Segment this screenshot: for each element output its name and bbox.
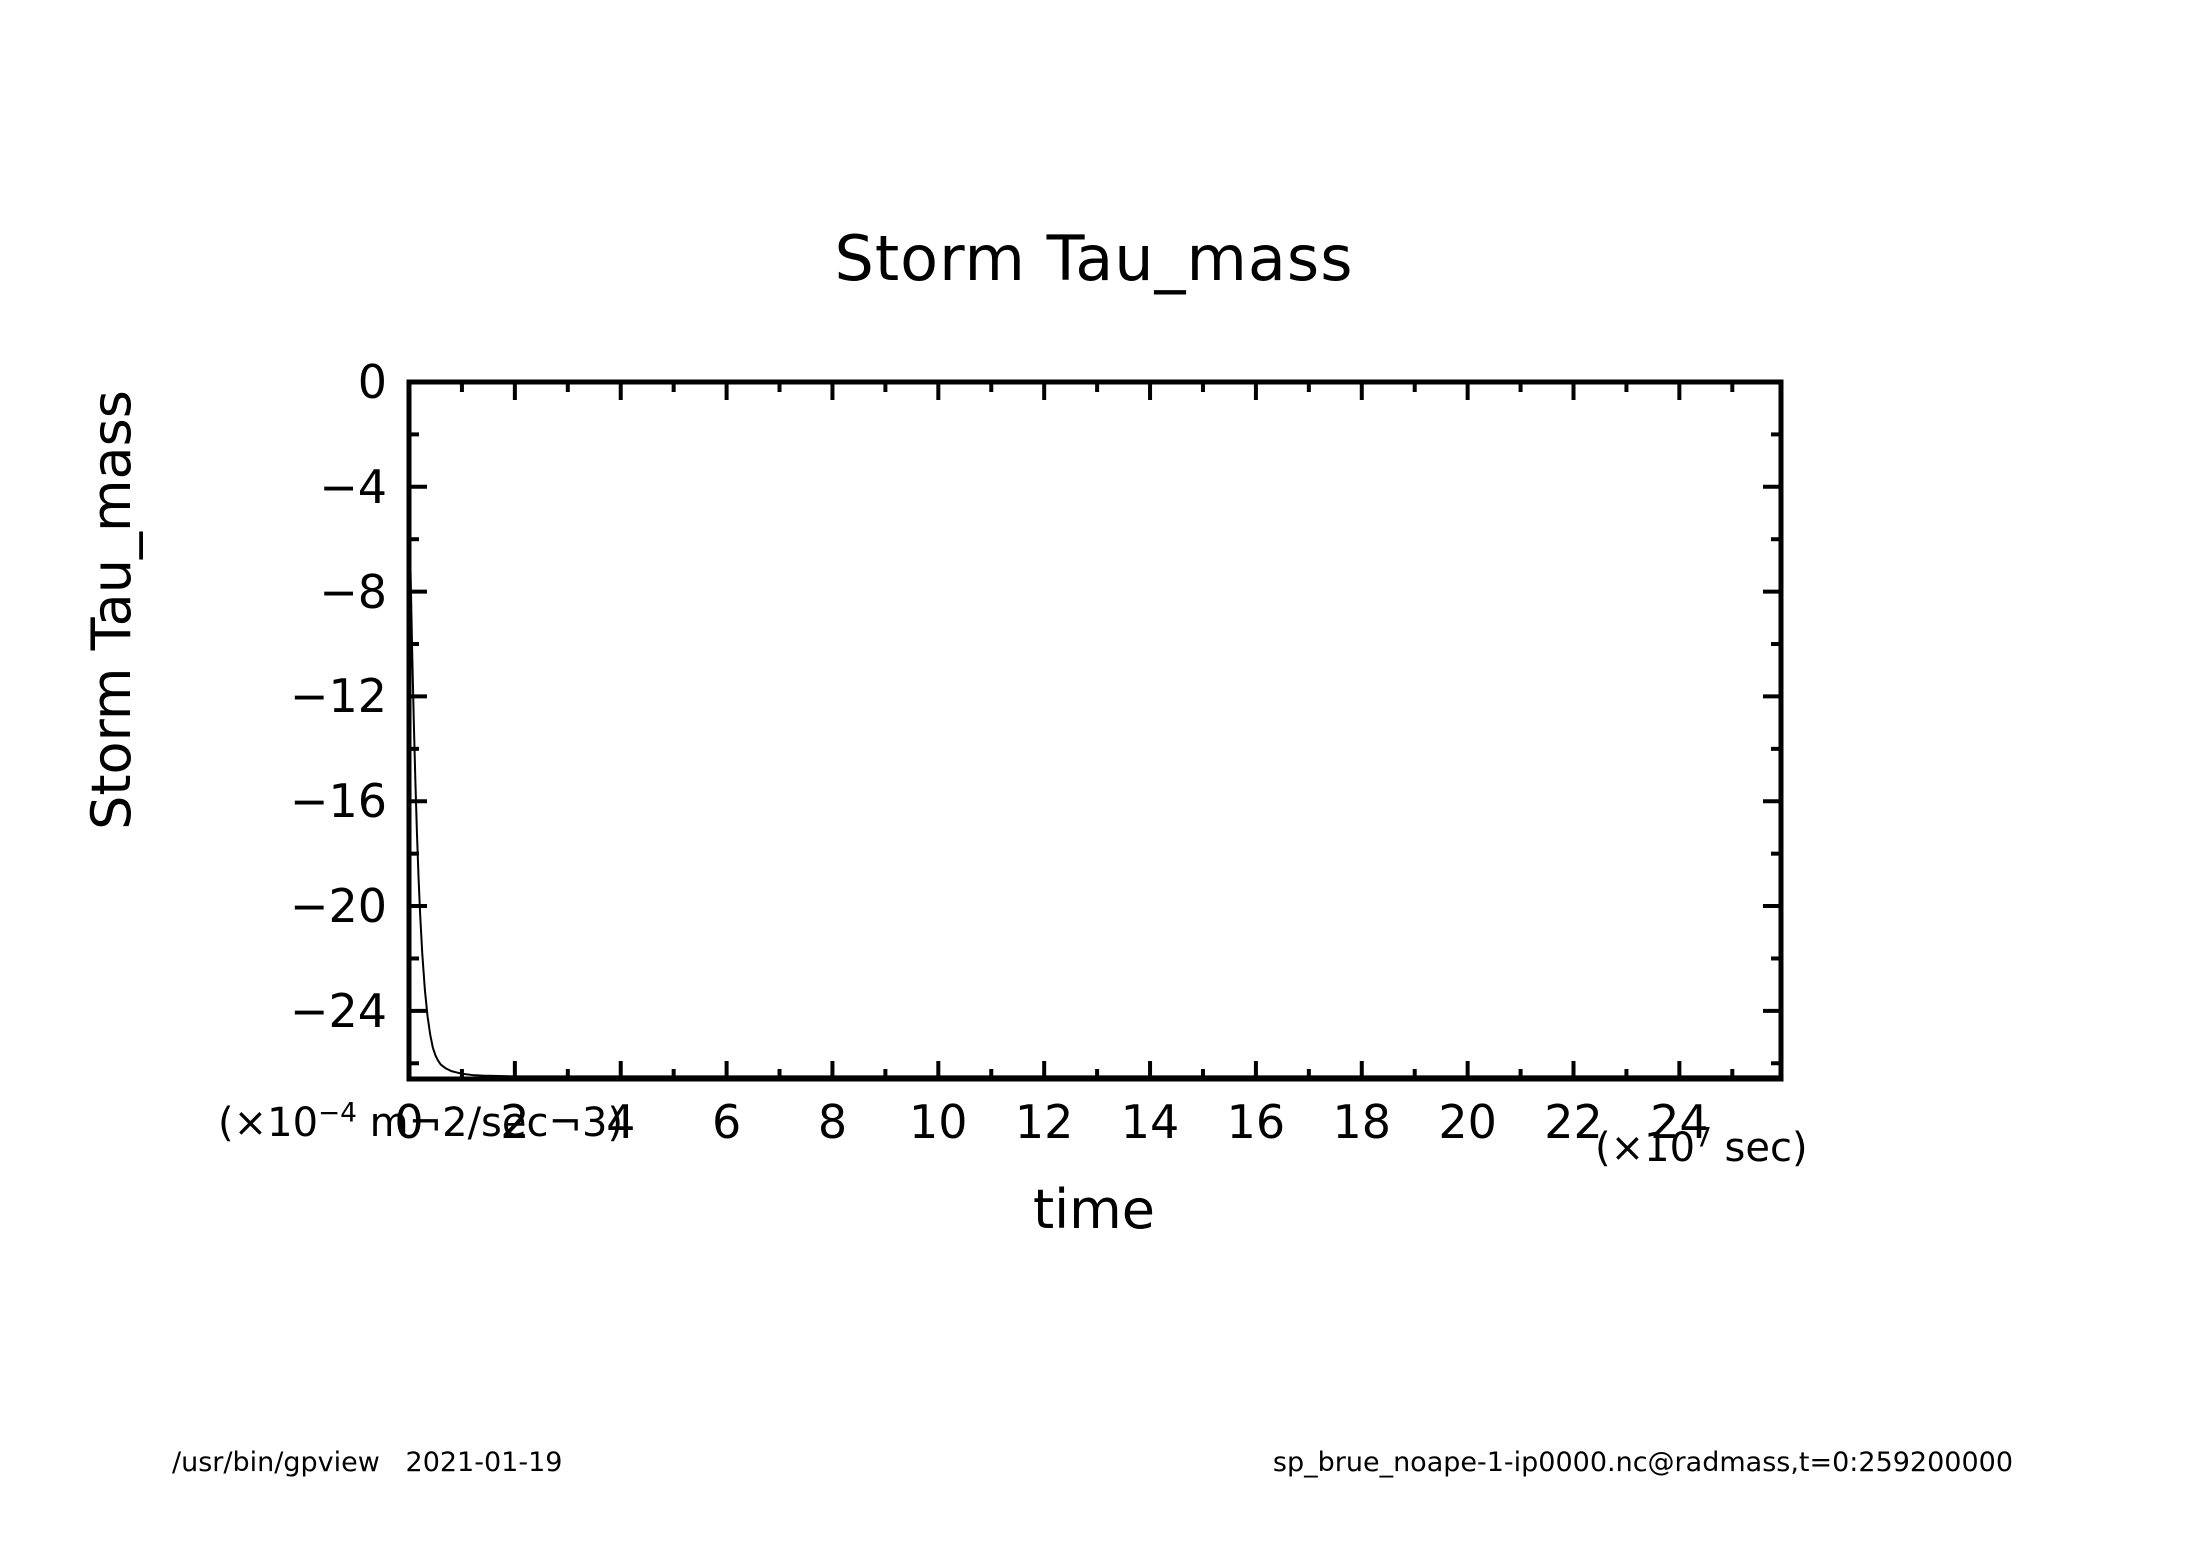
x-tick-label: 6: [712, 1095, 741, 1149]
x-tick-label: 24: [1650, 1095, 1709, 1149]
data-series-line: [409, 489, 1781, 1076]
figure-canvas: Storm Tau_mass Storm Tau_mass time (×10−…: [0, 0, 2188, 1546]
y-tick-label: −16: [290, 774, 387, 828]
x-tick-label: 10: [909, 1095, 968, 1149]
x-tick-label: 8: [818, 1095, 847, 1149]
y-tick-label: −12: [290, 669, 387, 723]
y-tick-label: −24: [290, 984, 387, 1038]
y-axis-title: Storm Tau_mass: [80, 390, 143, 830]
x-unit-suffix: sec): [1712, 1125, 1808, 1171]
x-tick-label: 0: [394, 1095, 423, 1149]
x-axis-ticks: [409, 382, 1732, 1079]
x-tick-label: 22: [1544, 1095, 1603, 1149]
y-tick-label: 0: [358, 355, 387, 409]
x-tick-label: 2: [500, 1095, 529, 1149]
plot-frame: [409, 382, 1781, 1079]
y-axis-ticks: [409, 382, 1781, 1063]
y-unit-exponent: −4: [318, 1098, 357, 1129]
y-unit-prefix: (×10: [218, 1100, 318, 1146]
footer-source-text: sp_brue_noape-1-ip0000.nc@radmass,t=0:25…: [1273, 1447, 2013, 1478]
y-tick-label: −8: [319, 565, 387, 619]
y-tick-label: −20: [290, 879, 387, 933]
footer-command-text: /usr/bin/gpview 2021-01-19: [172, 1447, 562, 1478]
x-tick-label: 16: [1227, 1095, 1286, 1149]
x-tick-label: 14: [1121, 1095, 1180, 1149]
x-tick-label: 4: [606, 1095, 635, 1149]
plot-area: [0, 0, 2188, 1546]
y-tick-label: −4: [319, 460, 387, 514]
x-axis-title: time: [0, 1178, 2188, 1241]
x-tick-label: 12: [1015, 1095, 1074, 1149]
x-tick-label: 18: [1332, 1095, 1391, 1149]
x-tick-label: 20: [1438, 1095, 1497, 1149]
